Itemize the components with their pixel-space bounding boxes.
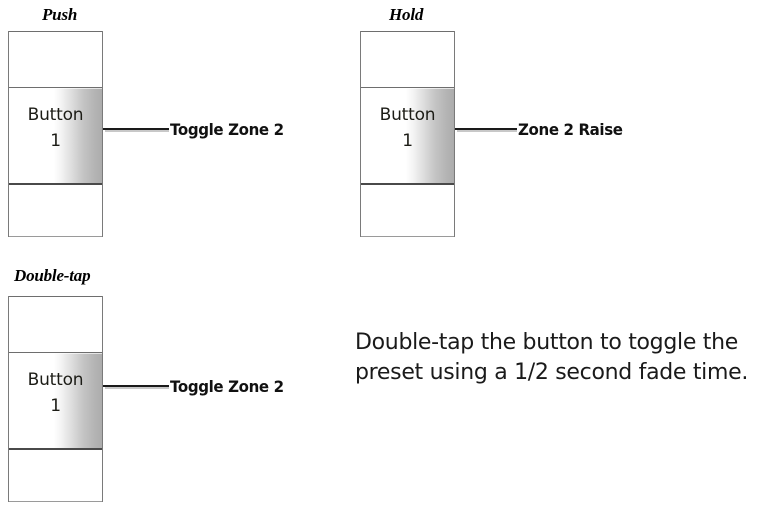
button-cell-active[interactable]: Button 1 xyxy=(9,353,102,450)
button-cell-top[interactable] xyxy=(9,31,102,88)
button-cell-top[interactable] xyxy=(361,31,454,88)
button-cell-active[interactable]: Button 1 xyxy=(9,88,102,185)
description-text: Double-tap the button to toggle the pres… xyxy=(355,328,771,388)
button-cell-active[interactable]: Button 1 xyxy=(361,88,454,185)
panel-title-push: Push xyxy=(42,5,77,25)
connector-line-double-tap xyxy=(103,385,169,389)
connector-line-shadow xyxy=(105,387,169,389)
callout-label-push: Toggle Zone 2 xyxy=(170,120,284,139)
button-cell-top[interactable] xyxy=(9,296,102,353)
button-cell-bottom[interactable] xyxy=(9,450,102,502)
button-cell-label: Button 1 xyxy=(9,102,102,154)
connector-line-shadow xyxy=(105,130,169,132)
connector-line-push xyxy=(103,128,169,132)
connector-line-hold xyxy=(455,128,517,132)
panel-title-double-tap: Double-tap xyxy=(14,266,90,286)
button-cell-bottom[interactable] xyxy=(9,185,102,237)
button-stack-double-tap[interactable]: Button 1 xyxy=(8,296,103,502)
button-stack-push[interactable]: Button 1 xyxy=(8,31,103,237)
button-cell-label: Button 1 xyxy=(361,102,454,154)
connector-line-shadow xyxy=(457,130,517,132)
button-stack-hold[interactable]: Button 1 xyxy=(360,31,455,237)
button-cell-label: Button 1 xyxy=(9,367,102,419)
callout-label-hold: Zone 2 Raise xyxy=(518,120,623,139)
callout-label-double-tap: Toggle Zone 2 xyxy=(170,377,284,396)
button-cell-bottom[interactable] xyxy=(361,185,454,237)
panel-title-hold: Hold xyxy=(389,5,423,25)
